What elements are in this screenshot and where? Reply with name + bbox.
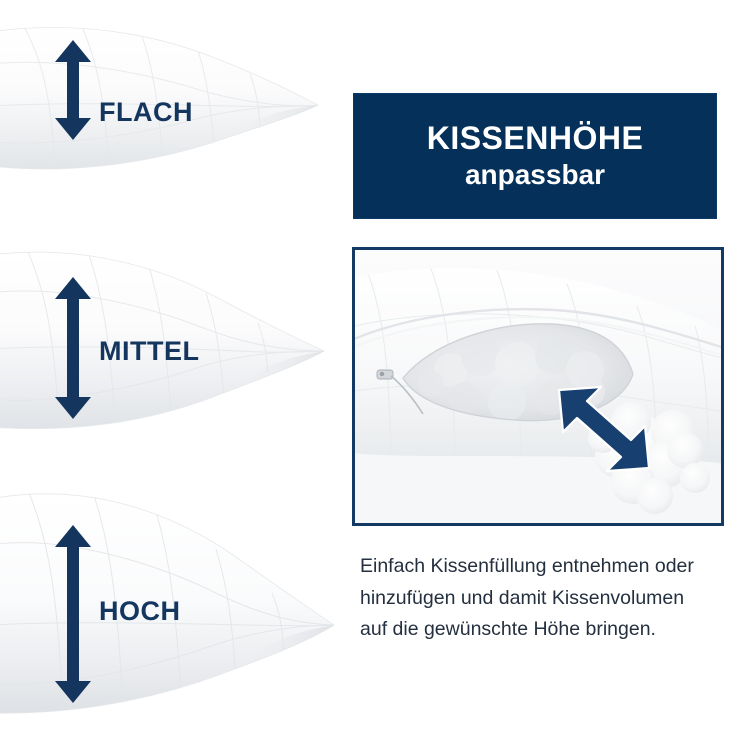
- pillow-label-flat: FLACH: [99, 99, 193, 126]
- headline-banner: KISSENHÖHE anpassbar: [353, 93, 717, 219]
- height-arrow-high: [54, 525, 92, 703]
- infographic-root: FLACH: [0, 0, 736, 736]
- pillow-label-medium: MITTEL: [99, 338, 199, 365]
- headline-subtitle: anpassbar: [465, 159, 605, 191]
- zipper-pillow-photo: [355, 250, 721, 523]
- caption-line-1: Einfach Kissenfüllung entnehmen oder: [360, 551, 732, 583]
- pillow-card-medium: MITTEL: [0, 243, 345, 458]
- pillow-card-high: HOCH: [0, 483, 345, 736]
- caption-line-2: hinzufügen und damit Kissenvolumen: [360, 583, 732, 615]
- headline-title: KISSENHÖHE: [427, 121, 644, 157]
- product-photo-panel: [352, 247, 724, 526]
- height-arrow-medium: [54, 277, 92, 419]
- height-arrow-flat: [54, 40, 92, 140]
- pillow-card-flat: FLACH: [0, 14, 345, 214]
- caption-text: Einfach Kissenfüllung entnehmen oder hin…: [360, 551, 732, 646]
- pillow-label-high: HOCH: [99, 598, 181, 625]
- caption-line-3: auf die gewünschte Höhe bringen.: [360, 614, 732, 646]
